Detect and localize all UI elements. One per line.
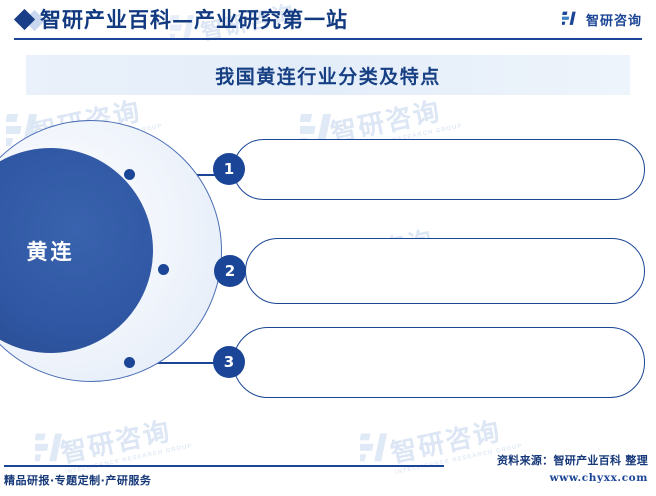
classification-diagram: 黄连 味连，多为栽培品,质佳效优,产量最高,畅销国内外,主产于四川石柱县,湖北西… [0,100,656,420]
callout-badge-2[interactable]: 2 [214,255,246,287]
callout-bubble-1 [233,139,645,200]
watermark-cn: 智研咨询 [388,417,504,470]
callout-badge-3[interactable]: 3 [213,346,245,378]
page-header: 智研产业百科—产业研究第一站 智研咨询 [0,0,656,41]
watermark-logo-icon [35,430,75,470]
node-dot-1 [124,169,135,180]
zhiyan-logo-icon [562,10,581,29]
callout-badge-1[interactable]: 1 [213,153,245,185]
header-divider [14,38,642,40]
title-banner: 我国黄连行业分类及特点 [26,55,630,95]
brand-logo[interactable]: 智研咨询 [562,10,642,29]
node-dot-3 [124,357,135,368]
callout-badge-number-2: 2 [225,262,235,280]
watermark-cn: 智研咨询 [58,417,174,470]
callout-badge-number-3: 3 [224,353,234,371]
callout-bubble-3 [233,327,645,398]
source-note: 资料来源：智研产业百科 整理 [497,452,648,468]
website-url[interactable]: www.chyxx.com [550,472,648,484]
brand-name: 智研咨询 [586,10,642,29]
node-dot-2 [158,264,169,275]
callout-badge-number-1: 1 [224,160,234,178]
page-title: 我国黄连行业分类及特点 [26,55,630,95]
footer-divider [4,465,444,467]
infographic-page: 智研咨询 INTELLIGENCE RESEARCH GROUP 智研咨询 IN… [0,0,656,496]
watermark-logo-icon [360,430,400,470]
callout-bubble-2 [245,238,645,304]
footer-services: 精品研报·专题定制·产研服务 [4,472,151,488]
site-title: 智研产业百科—产业研究第一站 [40,4,348,34]
